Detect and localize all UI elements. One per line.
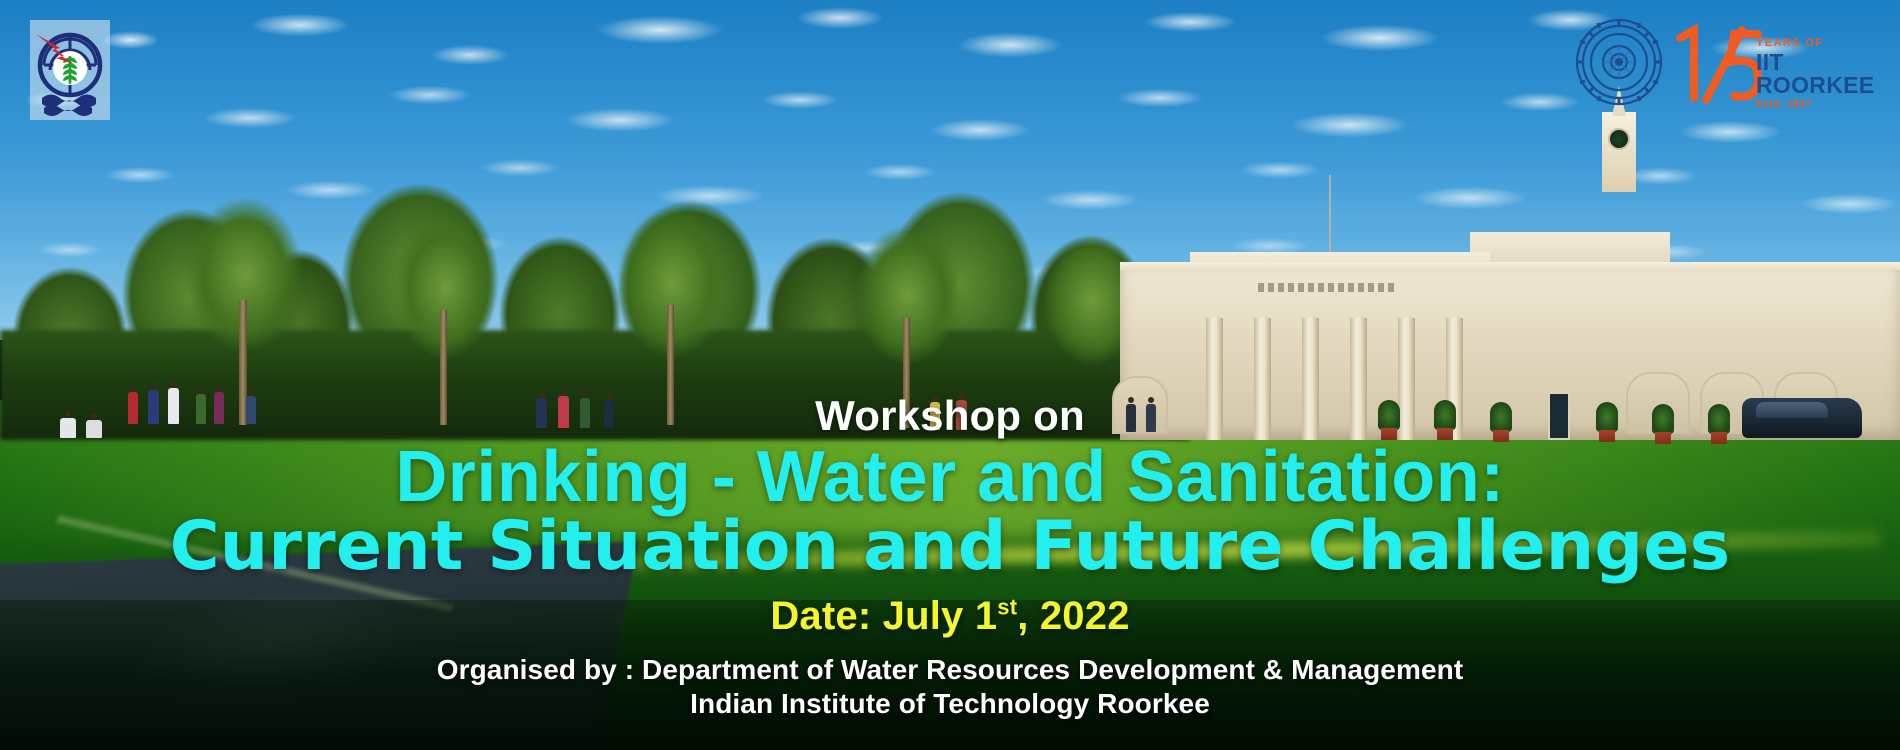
anniversary-175-numeral [1672,22,1768,106]
event-date-suffix: , 2022 [1017,594,1129,638]
organiser-block: Organised by : Department of Water Resou… [0,653,1900,721]
established-year-label: Estd. 1847 [1756,100,1900,110]
clock-tower [1602,112,1636,192]
event-date: Date: July 1st, 2022 [0,594,1900,639]
institute-name-label: IIT ROORKEE [1756,51,1900,97]
workshop-title-line-1: Drinking - Water and Sanitation: [0,440,1900,516]
event-date-prefix: Date: July 1 [770,594,997,638]
years-of-label: YEARS OF [1756,38,1900,49]
building-inscription [1258,283,1398,292]
workshop-kicker: Workshop on [0,395,1900,438]
event-date-ordinal: st [997,594,1017,619]
iit-roorkee-emblem [1575,18,1663,106]
anniversary-lockup-text: YEARS OF IIT ROORKEE Estd. 1847 [1756,38,1900,110]
workshop-title-line-2: Current Situation and Future Challenges [0,511,1900,583]
flagpole [1329,175,1331,253]
organiser-line-1: Organised by : Department of Water Resou… [0,653,1900,687]
event-banner: YEARS OF IIT ROORKEE Estd. 1847 Workshop… [0,0,1900,750]
organiser-line-2: Indian Institute of Technology Roorkee [0,687,1900,721]
wrdm-department-logo [30,20,110,120]
tower-clock-face [1608,128,1630,150]
banner-text-block: Workshop on Drinking - Water and Sanitat… [0,395,1900,721]
